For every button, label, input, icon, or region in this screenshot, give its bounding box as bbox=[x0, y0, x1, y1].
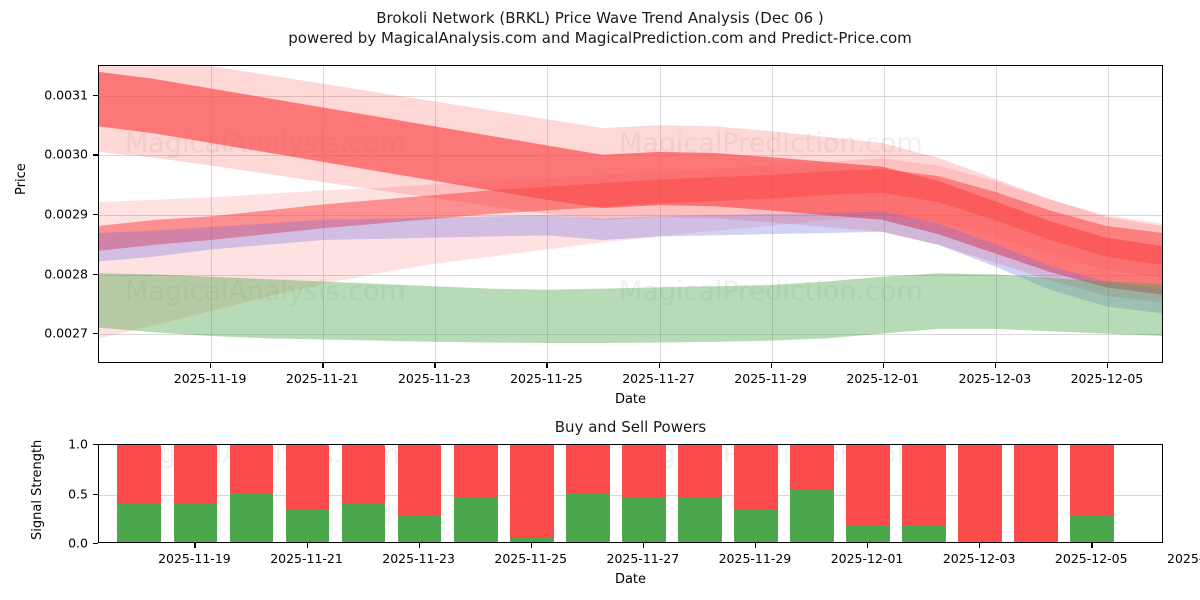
bar-stack[interactable] bbox=[230, 444, 274, 542]
x-tick-label: 2025-11-21 bbox=[270, 551, 343, 566]
bar-stack[interactable] bbox=[117, 444, 161, 542]
x-tick-label: 2025-11-25 bbox=[494, 551, 567, 566]
bar-stack[interactable] bbox=[902, 444, 946, 542]
x-tick-label: 2025-12-03 bbox=[943, 551, 1016, 566]
bar-segment-buy bbox=[174, 503, 218, 542]
bar-segment-sell bbox=[342, 444, 386, 503]
bar-segment-buy bbox=[398, 515, 442, 542]
x-tick-mark bbox=[643, 543, 644, 548]
bar-stack[interactable] bbox=[286, 444, 330, 542]
x-tick-label: 2025-11-23 bbox=[382, 551, 455, 566]
bar-stack[interactable] bbox=[566, 444, 610, 542]
price-band-series bbox=[99, 66, 1162, 362]
x-tick-mark bbox=[434, 363, 435, 368]
bar-segment-buy bbox=[342, 503, 386, 542]
x-tick-label: 2025-12-05 bbox=[1055, 551, 1128, 566]
bar-stack[interactable] bbox=[342, 444, 386, 542]
y-tick-mark bbox=[93, 543, 98, 544]
x-tick-mark bbox=[659, 363, 660, 368]
x-tick-label: 2025-11-27 bbox=[622, 371, 695, 386]
bar-stack[interactable] bbox=[622, 444, 666, 542]
y-tick-label: 0.0030 bbox=[10, 147, 88, 162]
bar-segment-sell bbox=[286, 444, 330, 510]
x-tick-label: 2025-11-29 bbox=[734, 371, 807, 386]
chart-page: Brokoli Network (BRKL) Price Wave Trend … bbox=[0, 0, 1200, 600]
x-tick-mark bbox=[995, 363, 996, 368]
x-tick-mark bbox=[1091, 543, 1092, 548]
bar-segment-buy bbox=[510, 538, 554, 542]
bar-stack[interactable] bbox=[958, 444, 1002, 542]
x-tick-mark bbox=[1107, 363, 1108, 368]
x-tick-mark bbox=[307, 543, 308, 548]
bar-segment-sell bbox=[902, 444, 946, 526]
bottom-chart-plot-area: MagicalAnalysis.com MagicalPrediction.co… bbox=[98, 444, 1163, 543]
x-tick-label: 2025-11-23 bbox=[398, 371, 471, 386]
title-line-1: Brokoli Network (BRKL) Price Wave Trend … bbox=[0, 8, 1200, 28]
x-tick-mark bbox=[771, 363, 772, 368]
bar-segment-sell bbox=[398, 444, 442, 515]
bar-segment-buy bbox=[678, 497, 722, 542]
bar-segment-buy bbox=[846, 525, 890, 542]
bottom-chart-xlabel: Date bbox=[98, 572, 1163, 587]
y-tick-label: 0.5 bbox=[10, 486, 88, 501]
x-tick-mark bbox=[546, 363, 547, 368]
bar-segment-sell bbox=[510, 444, 554, 538]
x-tick-mark bbox=[194, 543, 195, 548]
bar-segment-buy bbox=[1070, 515, 1114, 542]
x-tick-label: 2025-12-05 bbox=[1071, 371, 1144, 386]
top-chart-plot-area: MagicalAnalysis.com MagicalPrediction.co… bbox=[98, 65, 1163, 363]
y-tick-label: 1.0 bbox=[10, 437, 88, 452]
buy-sell-powers-chart[interactable]: MagicalAnalysis.com MagicalPrediction.co… bbox=[98, 444, 1163, 543]
bar-stack[interactable] bbox=[510, 444, 554, 542]
x-tick-label: 2025-11-19 bbox=[174, 371, 247, 386]
bar-stack[interactable] bbox=[790, 444, 834, 542]
top-chart-ylabel: Price bbox=[14, 163, 29, 195]
bar-segment-buy bbox=[790, 490, 834, 542]
x-tick-mark bbox=[419, 543, 420, 548]
x-tick-mark bbox=[210, 363, 211, 368]
x-tick-label: 2025-11-21 bbox=[286, 371, 359, 386]
bar-stack[interactable] bbox=[454, 444, 498, 542]
title-line-2: powered by MagicalAnalysis.com and Magic… bbox=[0, 28, 1200, 48]
bar-segment-buy bbox=[117, 503, 161, 542]
x-tick-mark bbox=[531, 543, 532, 548]
bar-stack[interactable] bbox=[174, 444, 218, 542]
x-tick-mark bbox=[867, 543, 868, 548]
x-tick-label: 2025-11-25 bbox=[510, 371, 583, 386]
bar-segment-sell bbox=[958, 444, 1002, 542]
band-green-band bbox=[99, 273, 1162, 343]
bar-segment-sell bbox=[1070, 444, 1114, 515]
bar-segment-sell bbox=[566, 444, 610, 493]
bar-stack[interactable] bbox=[846, 444, 890, 542]
price-wave-chart[interactable]: MagicalAnalysis.com MagicalPrediction.co… bbox=[98, 65, 1163, 363]
y-tick-label: 0.0 bbox=[10, 536, 88, 551]
bar-segment-sell bbox=[174, 444, 218, 503]
bar-stack[interactable] bbox=[398, 444, 442, 542]
bar-stack[interactable] bbox=[1014, 444, 1058, 542]
x-tick-label: 2025-12-03 bbox=[959, 371, 1032, 386]
bar-stack[interactable] bbox=[1070, 444, 1114, 542]
x-tick-label: 2025-11-27 bbox=[607, 551, 680, 566]
y-tick-label: 0.0028 bbox=[10, 266, 88, 281]
y-tick-label: 0.0027 bbox=[10, 326, 88, 341]
x-tick-label: 2025-11-19 bbox=[158, 551, 231, 566]
bar-segment-buy bbox=[734, 510, 778, 542]
y-tick-label: 0.0031 bbox=[10, 87, 88, 102]
x-tick-label: 2025-11-29 bbox=[719, 551, 792, 566]
bar-segment-sell bbox=[846, 444, 890, 525]
x-tick-label: 2025-12-07 bbox=[1167, 551, 1200, 566]
bar-segment-sell bbox=[790, 444, 834, 490]
x-tick-label: 2025-12-01 bbox=[846, 371, 919, 386]
x-tick-mark bbox=[322, 363, 323, 368]
bar-segment-sell bbox=[678, 444, 722, 497]
bar-segment-sell bbox=[734, 444, 778, 510]
bottom-chart-title: Buy and Sell Powers bbox=[98, 418, 1163, 436]
bar-segment-buy bbox=[902, 526, 946, 542]
x-tick-label: 2025-12-01 bbox=[831, 551, 904, 566]
bar-stack[interactable] bbox=[734, 444, 778, 542]
bar-segment-buy bbox=[622, 497, 666, 542]
x-tick-mark bbox=[979, 543, 980, 548]
bar-segment-buy bbox=[454, 497, 498, 542]
x-tick-mark bbox=[883, 363, 884, 368]
y-tick-label: 0.0029 bbox=[10, 207, 88, 222]
bar-stack[interactable] bbox=[678, 444, 722, 542]
bar-segment-buy bbox=[286, 510, 330, 542]
bar-segment-buy bbox=[566, 493, 610, 543]
bar-segment-sell bbox=[230, 444, 274, 493]
top-chart-xlabel: Date bbox=[98, 392, 1163, 407]
bar-segment-buy bbox=[230, 493, 274, 543]
bar-segment-sell bbox=[454, 444, 498, 497]
bar-segment-sell bbox=[117, 444, 161, 503]
bar-segment-sell bbox=[1014, 444, 1058, 542]
x-tick-mark bbox=[755, 543, 756, 548]
page-title: Brokoli Network (BRKL) Price Wave Trend … bbox=[0, 8, 1200, 48]
bar-segment-sell bbox=[622, 444, 666, 497]
